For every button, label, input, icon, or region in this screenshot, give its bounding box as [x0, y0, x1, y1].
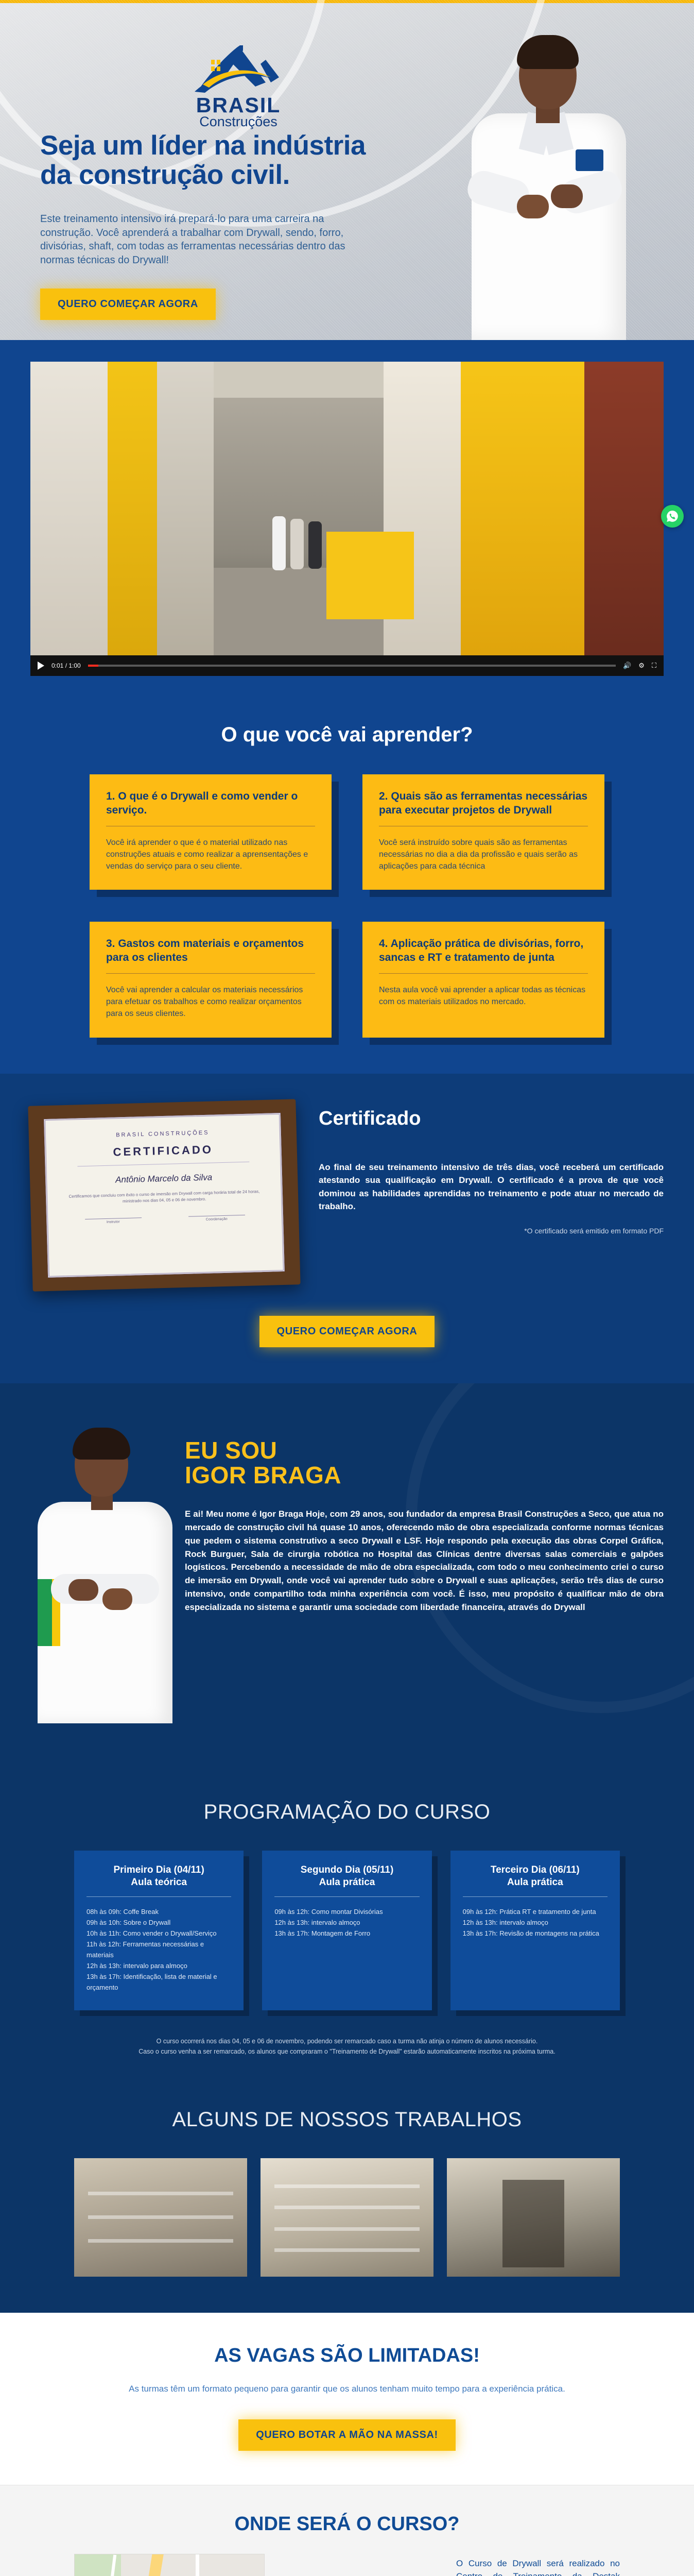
certificate-section: BRASIL CONSTRUÇÕES CERTIFICADO Antônio M… — [0, 1074, 694, 1383]
certificate-signature-1: Instrutor — [85, 1217, 142, 1225]
program-day-card: Terceiro Dia (06/11) Aula prática 09h às… — [450, 1851, 620, 2011]
works-title: ALGUNS DE NOSSOS TRABALHOS — [0, 2108, 694, 2158]
instructor-photo-hero — [431, 21, 673, 340]
work-photo — [74, 2158, 247, 2277]
video-scene-wall — [108, 362, 157, 655]
divider — [77, 1161, 249, 1166]
program-day-heading: Segundo Dia (05/11) Aula prática — [274, 1864, 419, 1889]
instructor-photo — [30, 1425, 180, 1723]
video-scene-wall — [584, 362, 664, 655]
program-item: 09h às 12h: Prática RT e tratamento de j… — [463, 1906, 608, 1917]
brand-name: BRASIL — [179, 95, 298, 115]
video-scene-wall — [30, 362, 108, 655]
video-scene-ceiling — [214, 362, 384, 398]
program-item: 12h às 13h: intervalo almoço — [274, 1917, 419, 1928]
program-day-heading: Primeiro Dia (04/11) Aula teórica — [86, 1864, 231, 1889]
location-paragraph: O Curso de Drywall será realizado no Cen… — [456, 2554, 620, 2576]
hair — [73, 1428, 130, 1460]
video-controls[interactable]: 0:01 / 1:00 🔊 ⚙ ⛶ — [30, 655, 664, 676]
program-item: 12h às 13h: intervalo almoço — [463, 1917, 608, 1928]
program-item: 09h às 10h: Sobre o Drywall — [86, 1917, 231, 1928]
works-grid — [74, 2158, 620, 2277]
works-section: ALGUNS DE NOSSOS TRABALHOS — [0, 2088, 694, 2313]
divider — [379, 826, 588, 826]
vagas-title: AS VAGAS SÃO LIMITADAS! — [0, 2345, 694, 2367]
divider — [86, 1896, 231, 1897]
certificate-body: Certificamos que concluiu com êxito o cu… — [61, 1188, 268, 1206]
location-section: ONDE SERÁ O CURSO? Praça Dom João Batist… — [0, 2485, 694, 2576]
hand-left — [551, 184, 583, 208]
program-item: 13h às 17h: Montagem de Forro — [274, 1928, 419, 1939]
learn-card: 2. Quais são as ferramentas necessárias … — [362, 774, 604, 890]
divider — [106, 973, 315, 974]
video-scene-wall — [461, 362, 584, 655]
program-note: O curso ocorrerá nos dias 04, 05 e 06 de… — [48, 2036, 646, 2057]
learn-title: O que você vai aprender? — [0, 700, 694, 774]
certificate-paragraph: Ao final de seu treinamento intensivo de… — [319, 1161, 664, 1213]
doorway — [502, 2180, 565, 2267]
house-roof-icon — [194, 41, 284, 95]
learn-card-body: Nesta aula você vai aprender a aplicar t… — [379, 984, 588, 1008]
vagas-paragraph: As turmas têm um formato pequeno para ga… — [0, 2382, 694, 2396]
learn-card: 4. Aplicação prática de divisórias, forr… — [362, 922, 604, 1037]
partner-logo: Destak PRODUTOS ARQUITETÔNICOS — [283, 2554, 438, 2576]
instructor-bio: E ai! Meu nome é Igor Braga Hoje, com 29… — [185, 1507, 664, 1614]
hero-cta-button[interactable]: QUERO COMEÇAR AGORA — [40, 289, 216, 320]
learn-card: 1. O que é o Drywall e como vender o ser… — [90, 774, 332, 890]
learn-card: 3. Gastos com materiais e orçamentos par… — [90, 922, 332, 1037]
certificate-signature-2: Coordenação — [188, 1215, 245, 1222]
program-day-items: 08h às 09h: Coffe Break 09h às 10h: Sobr… — [86, 1906, 231, 1993]
divider — [274, 1896, 419, 1897]
work-photo — [261, 2158, 433, 2277]
program-day-heading: Terceiro Dia (06/11) Aula prática — [463, 1864, 608, 1889]
learn-section: O que você vai aprender? 1. O que é o Dr… — [0, 694, 694, 1074]
divider — [379, 973, 588, 974]
program-item: 13h às 17h: Revisão de montagens na prát… — [463, 1928, 608, 1939]
learn-card-heading: 1. O que é o Drywall e como vender o ser… — [106, 790, 315, 818]
work-photo — [447, 2158, 620, 2277]
video-scene-wall — [157, 362, 214, 655]
video-person — [290, 519, 304, 569]
hand-right — [517, 195, 549, 218]
program-section: PROGRAMAÇÃO DO CURSO Primeiro Dia (04/11… — [0, 1765, 694, 2088]
fullscreen-icon[interactable]: ⛶ — [652, 662, 656, 670]
gear-icon[interactable]: ⚙ — [638, 662, 645, 670]
certificate-paper: BRASIL CONSTRUÇÕES CERTIFICADO Antônio M… — [44, 1113, 285, 1278]
program-day-items: 09h às 12h: Prática RT e tratamento de j… — [463, 1906, 608, 1939]
learn-card-heading: 2. Quais são as ferramentas necessárias … — [379, 790, 588, 818]
program-item: 09h às 12h: Como montar Divisórias — [274, 1906, 419, 1917]
whatsapp-float-button[interactable] — [661, 505, 684, 528]
program-item: 11h às 12h: Ferramentas necessárias e ma… — [86, 1939, 231, 1960]
hero-paragraph: Este treinamento intensivo irá prepará-l… — [40, 212, 370, 267]
video-progress-bar[interactable] — [88, 665, 616, 667]
program-day-items: 09h às 12h: Como montar Divisórias 12h à… — [274, 1906, 419, 1939]
certificate-title-text: CERTIFICADO — [59, 1141, 267, 1160]
hand-left — [68, 1579, 98, 1601]
certificate-note: *O certificado será emitido em formato P… — [319, 1227, 664, 1235]
location-map[interactable]: Praça Dom João Batista Mercado Extra R. … — [74, 2554, 265, 2576]
hair — [517, 35, 579, 69]
certificate-image: BRASIL CONSTRUÇÕES CERTIFICADO Antônio M… — [30, 1103, 298, 1288]
learn-cards-grid: 1. O que é o Drywall e como vender o ser… — [90, 774, 604, 1038]
certificate-title: Certificado — [319, 1108, 664, 1130]
video-player[interactable]: 0:01 / 1:00 🔊 ⚙ ⛶ — [30, 362, 664, 676]
divider — [106, 826, 315, 826]
instructor-title-line2: IGOR BRAGA — [185, 1462, 341, 1488]
video-timestamp: 0:01 / 1:00 — [51, 662, 81, 669]
hand-right — [102, 1588, 132, 1610]
video-scene-yellow-block — [326, 532, 414, 619]
learn-card-heading: 3. Gastos com materiais e orçamentos par… — [106, 937, 315, 965]
learn-card-heading: 4. Aplicação prática de divisórias, forr… — [379, 937, 588, 965]
limited-seats-section: AS VAGAS SÃO LIMITADAS! As turmas têm um… — [0, 2313, 694, 2485]
vagas-cta-button[interactable]: QUERO BOTAR A MÃO NA MASSA! — [238, 2419, 456, 2451]
certificate-cta-button[interactable]: QUERO COMEÇAR AGORA — [259, 1316, 435, 1347]
program-item: 12h às 13h: intervalo para almoço — [86, 1960, 231, 1971]
learn-card-body: Você irá aprender o que é o material uti… — [106, 837, 315, 873]
program-item: 10h às 11h: Como vender o Drywall/Serviç… — [86, 1928, 231, 1939]
program-item: 13h às 17h: Identificação, lista de mate… — [86, 1971, 231, 1993]
video-person — [272, 516, 286, 570]
whatsapp-icon — [666, 510, 679, 523]
volume-icon[interactable]: 🔊 — [623, 662, 631, 670]
video-person — [308, 521, 322, 569]
program-item: 08h às 09h: Coffe Break — [86, 1906, 231, 1917]
program-day-card: Primeiro Dia (04/11) Aula teórica 08h às… — [74, 1851, 244, 2011]
certificate-recipient: Antônio Marcelo da Silva — [60, 1171, 267, 1187]
certificate-frame: BRASIL CONSTRUÇÕES CERTIFICADO Antônio M… — [28, 1099, 300, 1291]
landing-page: BRASIL Construções Seja um líder na indú… — [0, 0, 694, 2576]
certificate-org: BRASIL CONSTRUÇÕES — [59, 1128, 266, 1140]
shirt-logo-badge — [576, 149, 603, 171]
learn-card-body: Você será instruído sobre quais são as f… — [379, 837, 588, 873]
program-title: PROGRAMAÇÃO DO CURSO — [0, 1801, 694, 1851]
brand-logo[interactable]: BRASIL Construções — [179, 41, 298, 129]
divider — [463, 1896, 608, 1897]
hero-headline: Seja um líder na indústria da construção… — [40, 131, 401, 190]
learn-card-body: Você vai aprender a calcular os materiai… — [106, 984, 315, 1020]
onde-title: ONDE SERÁ O CURSO? — [0, 2513, 694, 2535]
hero-section: BRASIL Construções Seja um líder na indú… — [0, 0, 694, 340]
program-day-card: Segundo Dia (05/11) Aula prática 09h às … — [262, 1851, 431, 2011]
program-grid: Primeiro Dia (04/11) Aula teórica 08h às… — [74, 1851, 620, 2011]
video-section: 0:01 / 1:00 🔊 ⚙ ⛶ — [0, 340, 694, 694]
play-icon[interactable] — [38, 662, 44, 670]
instructor-title-line1: EU SOU — [185, 1437, 277, 1464]
about-instructor-section: EU SOU IGOR BRAGA E ai! Meu nome é Igor … — [0, 1383, 694, 1765]
